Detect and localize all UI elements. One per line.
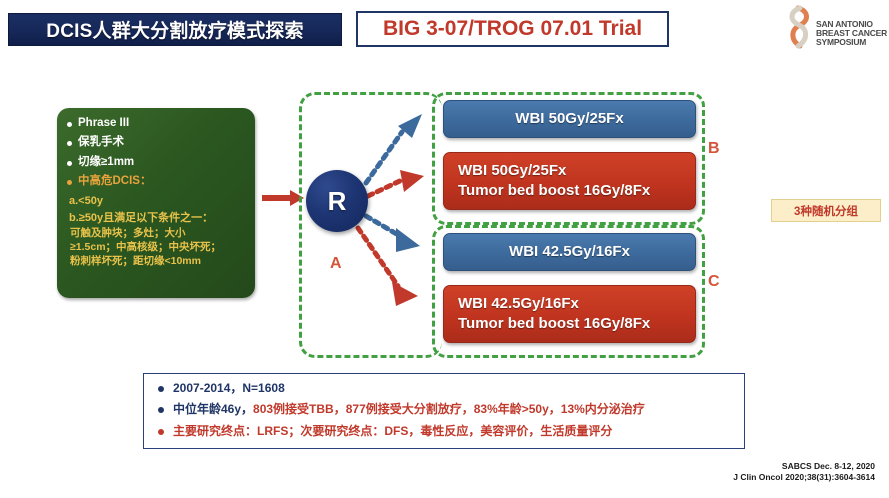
eligibility-criteria-box: Phrase III 保乳手术 切缘≥1mm 中高危DCIS： a.<50y b… xyxy=(57,108,255,298)
arm-a-label: A xyxy=(330,255,342,273)
footer-conference-label: SABCS Dec. 8-12, 2020 xyxy=(733,461,875,472)
bullet-icon xyxy=(158,429,164,435)
randomization-groups-note: 3种随机分组 xyxy=(771,199,881,222)
logo-line-3: SYMPOSIUM xyxy=(816,38,887,47)
bullet-icon xyxy=(158,386,164,392)
slide-canvas: DCIS人群大分割放疗模式探索 BIG 3-07/TROG 07.01 Tria… xyxy=(0,0,889,498)
criteria-sub-a: a.<50y xyxy=(57,194,255,209)
criteria-to-randomization-arrow-icon xyxy=(262,190,304,206)
criteria-item-margin: 切缘≥1mm xyxy=(57,155,255,169)
randomization-groups-note-label: 3种随机分组 xyxy=(794,203,858,219)
arm-b-label: B xyxy=(708,140,720,158)
trial-name-box: BIG 3-07/TROG 07.01 Trial xyxy=(356,11,669,47)
criteria-detail-line-3: 粉刺样坏死；距切缘<10mm xyxy=(57,255,255,269)
summary-row-enrollment: 2007-2014，N=1608 xyxy=(158,381,744,395)
summary-demographics-label: 中位年龄46y，803例接受TBB，877例接受大分割放疗，83%年龄>50y，… xyxy=(173,402,645,416)
trial-name-label: BIG 3-07/TROG 07.01 Trial xyxy=(383,17,642,41)
arm-c-label: C xyxy=(708,273,720,291)
randomization-node-label: R xyxy=(328,186,347,217)
slide-footer: SABCS Dec. 8-12, 2020 J Clin Oncol 2020;… xyxy=(733,461,875,483)
arm-b-standard-box: WBI 50Gy/25Fx xyxy=(443,100,696,138)
arm-b-boost-line-2: Tumor bed boost 16Gy/8Fx xyxy=(458,181,650,201)
criteria-item-phase: Phrase III xyxy=(57,116,255,130)
summary-demographics-prefix: 中位年龄46y， xyxy=(173,402,253,416)
sabcs-logo: SAN ANTONIO BREAST CANCER SYMPOSIUM xyxy=(778,4,884,52)
summary-row-demographics: 中位年龄46y，803例接受TBB，877例接受大分割放疗，83%年龄>50y，… xyxy=(158,402,744,416)
arm-b-boost-box: WBI 50Gy/25Fx Tumor bed boost 16Gy/8Fx xyxy=(443,152,696,210)
bullet-icon xyxy=(67,122,72,127)
criteria-label-surgery: 保乳手术 xyxy=(78,135,124,149)
summary-demographics-detail: 803例接受TBB，877例接受大分割放疗，83%年龄>50y，13%内分泌治疗 xyxy=(253,402,645,416)
summary-endpoints-label: 主要研究终点：LRFS；次要研究终点：DFS，毒性反应，美容评价，生活质量评分 xyxy=(173,424,612,438)
arm-c-boost-line-1: WBI 42.5Gy/16Fx xyxy=(458,294,579,314)
arm-b-standard-label: WBI 50Gy/25Fx xyxy=(515,109,623,129)
criteria-label-phase: Phrase III xyxy=(78,116,129,130)
arm-b-boost-line-1: WBI 50Gy/25Fx xyxy=(458,161,566,181)
criteria-label-margin: 切缘≥1mm xyxy=(78,155,134,169)
criteria-detail-line-1: 可触及肿块；多灶；大小 xyxy=(57,227,255,241)
summary-enrollment-label: 2007-2014，N=1608 xyxy=(173,381,285,395)
summary-row-endpoints: 主要研究终点：LRFS；次要研究终点：DFS，毒性反应，美容评价，生活质量评分 xyxy=(158,424,744,438)
arm-c-boost-line-2: Tumor bed boost 16Gy/8Fx xyxy=(458,314,650,334)
bullet-icon xyxy=(67,161,72,166)
slide-title-bar: DCIS人群大分割放疗模式探索 xyxy=(8,13,342,46)
arm-c-standard-box: WBI 42.5Gy/16Fx xyxy=(443,233,696,271)
criteria-detail-line-2: ≥1.5cm；中高核级；中央坏死； xyxy=(57,241,255,255)
criteria-item-surgery: 保乳手术 xyxy=(57,135,255,149)
criteria-sub-b: b.≥50y且满足以下条件之一： xyxy=(57,211,255,225)
study-summary-box: 2007-2014，N=1608 中位年龄46y，803例接受TBB，877例接… xyxy=(143,373,745,449)
randomization-node: R xyxy=(306,170,368,232)
footer-citation-label: J Clin Oncol 2020;38(31):3604-3614 xyxy=(733,472,875,483)
bullet-icon xyxy=(67,141,72,146)
slide-title: DCIS人群大分割放疗模式探索 xyxy=(46,16,303,43)
bullet-icon xyxy=(67,180,72,185)
criteria-label-risk: 中高危DCIS： xyxy=(78,174,151,188)
criteria-item-risk: 中高危DCIS： xyxy=(57,174,255,188)
arm-c-boost-box: WBI 42.5Gy/16Fx Tumor bed boost 16Gy/8Fx xyxy=(443,285,696,343)
arm-c-standard-label: WBI 42.5Gy/16Fx xyxy=(509,242,630,262)
bullet-icon xyxy=(158,407,164,413)
